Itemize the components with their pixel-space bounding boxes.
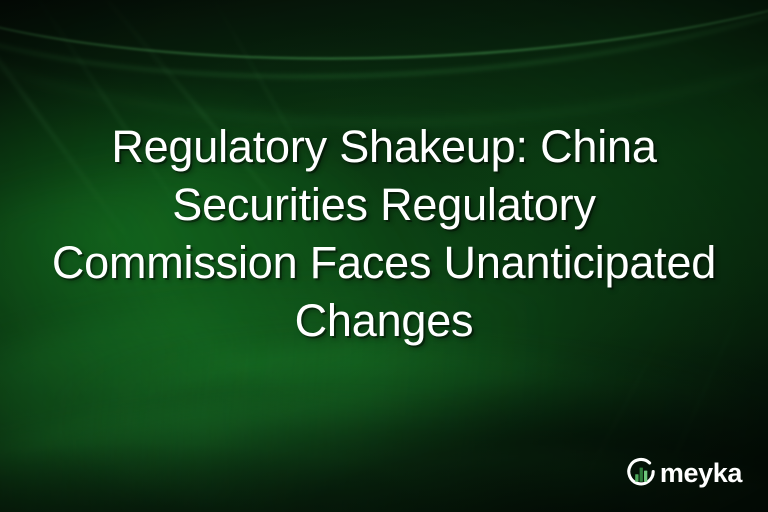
ribbon-streak xyxy=(0,384,618,512)
arc-line xyxy=(0,0,768,80)
headline-title: Regulatory Shakeup: China Securities Reg… xyxy=(0,118,768,350)
meyka-logo[interactable]: meyka xyxy=(624,456,742,490)
meyka-wordmark: meyka xyxy=(660,460,742,487)
title-card: Regulatory Shakeup: China Securities Reg… xyxy=(0,0,768,512)
arc-line xyxy=(0,0,768,109)
arc-line xyxy=(0,0,768,137)
meyka-ring-bars-icon xyxy=(624,456,658,490)
